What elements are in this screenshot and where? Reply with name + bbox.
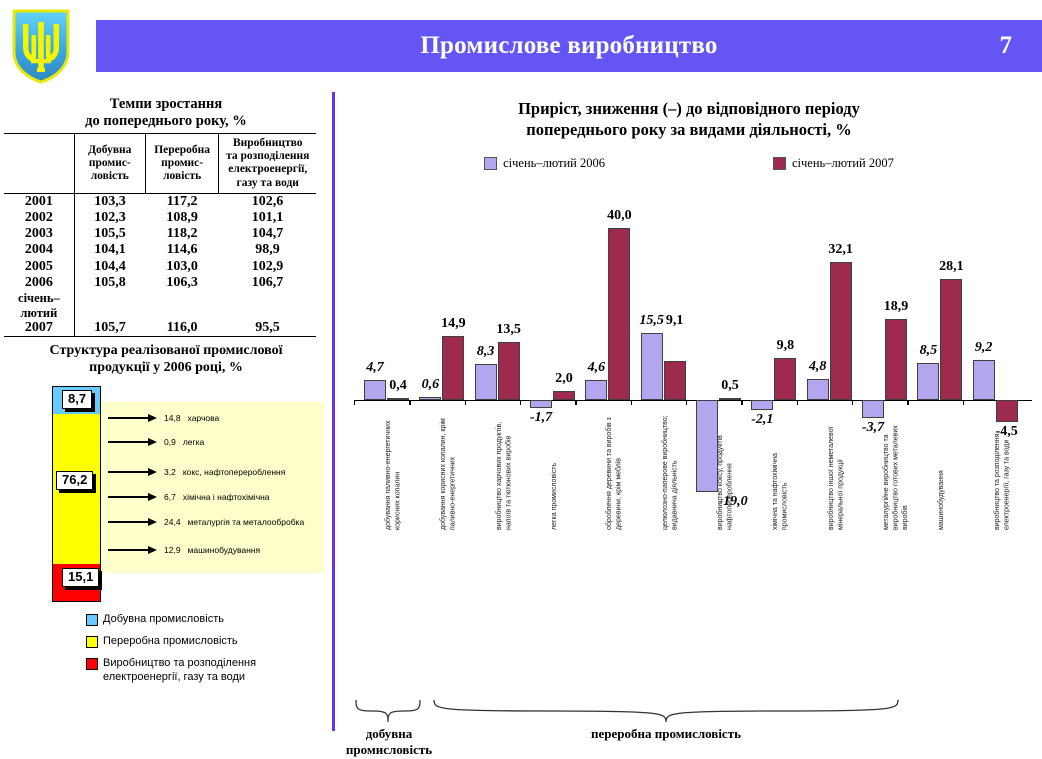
table-row-current-period: січень– лютий 2007 105,7 116,0 95,5 (4, 291, 316, 337)
cell-year: 2001 (4, 193, 74, 210)
breakdown-value: 6,7 (164, 492, 176, 502)
arrow-shaft (108, 417, 148, 419)
bar-value-label: 0,5 (708, 378, 752, 394)
arrow-head-icon (148, 414, 157, 422)
category-label: виробництво іншої неметалевої мінерально… (827, 410, 846, 530)
breakdown-label: кокс, нафтоперероблення (183, 467, 286, 477)
axis-tick (631, 400, 632, 405)
breakdown-row-food: 14,8 харчова (108, 413, 219, 423)
breakdown-label: хімічна і нафтохімічна (183, 492, 270, 502)
bar-2007[interactable] (664, 361, 686, 400)
breakdown-row-coke: 3,2 кокс, нафтоперероблення (108, 467, 285, 477)
cell-pererobna: 106,3 (145, 275, 219, 291)
category-label: хімічна та нафтохімічна промисловість (771, 410, 790, 530)
breakdown-value: 3,2 (164, 467, 176, 477)
brace-label-processing: переробна промисловість (556, 726, 776, 742)
chart-legend-item-2006: січень–лютий 2006 (484, 156, 605, 171)
category-label: легка промисловість (550, 410, 559, 530)
category-label: виробництво та розподілення електроенерг… (993, 410, 1012, 530)
cell-dobuvna: 103,3 (74, 193, 145, 210)
legend-item-mining: Добувна промисловість (86, 612, 326, 626)
axis-tick (575, 400, 576, 405)
arrow-head-icon (148, 438, 157, 446)
bar-2006[interactable] (419, 397, 441, 400)
axis-tick (520, 400, 521, 405)
category-label: виробництво коксу, продуктів нафтопереро… (716, 410, 735, 530)
axis-tick (409, 400, 410, 405)
axis-tick (797, 400, 798, 405)
bar-2007[interactable] (719, 398, 741, 400)
table-row: 2004 104,1 114,6 98,9 (4, 242, 316, 258)
cell-dobuvna: 104,1 (74, 242, 145, 258)
bar-2007[interactable] (774, 358, 796, 400)
chart-legend: січень–лютий 2006 січень–лютий 2007 (336, 156, 1042, 171)
bar-value-label: 4,7 (353, 360, 397, 376)
breakdown-row-light: 0,9 легка (108, 437, 204, 447)
bar-2007[interactable] (442, 336, 464, 400)
bar-2006[interactable] (807, 379, 829, 400)
arrow-head-icon (148, 518, 157, 526)
category-label: оброблення деревини та виробів з деревин… (605, 410, 624, 530)
legend-swatch-processing (86, 636, 98, 648)
breakdown-label: харчова (188, 413, 220, 423)
category-label: добування корисних копалин, крім паливно… (439, 410, 458, 530)
legend-item-processing: Переробна промисловість (86, 634, 326, 648)
bar-2006[interactable] (641, 333, 663, 400)
bar-2006[interactable] (475, 364, 497, 400)
axis-tick (354, 400, 355, 405)
bar-2006[interactable] (751, 400, 773, 410)
table-body: 2001 103,3 117,2 102,6 2002 102,3 108,9 … (4, 193, 316, 337)
arrow-shaft (108, 521, 148, 523)
chart-plot-area: 4,70,40,614,98,313,5-1,72,04,640,015,59,… (350, 210, 1036, 510)
col-header-energy: Виробництво та розподілення електроенерг… (219, 134, 316, 193)
axis-tick (741, 400, 742, 405)
bar-2007[interactable] (608, 228, 630, 400)
vertical-divider (332, 92, 335, 731)
cell-year: 2003 (4, 226, 74, 242)
axis-tick (686, 400, 687, 405)
table-row: 2001 103,3 117,2 102,6 (4, 193, 316, 210)
bar-value-label: 9,8 (763, 338, 807, 354)
growth-table-title: Темпи зростання до попереднього року, % (6, 96, 326, 130)
bar-2006[interactable] (917, 363, 939, 400)
arrow-shaft (108, 471, 148, 473)
breakdown-value: 24,4 (164, 517, 181, 527)
structure-chart-title: Структура реалізованої промислової проду… (10, 343, 322, 377)
category-label: машинобудування (937, 410, 946, 530)
bar-value-label: 13,5 (487, 322, 531, 338)
axis-tick (907, 400, 908, 405)
cell-year: 2006 (4, 275, 74, 291)
cell-energy: 102,6 (219, 193, 316, 210)
bar-2006[interactable] (530, 400, 552, 408)
legend-swatch-energy (86, 658, 98, 670)
category-label: виробництво харчових продуктів, напоїв т… (495, 410, 514, 530)
legend-label-processing: Переробна промисловість (103, 634, 238, 648)
chart-legend-label-2007: січень–лютий 2007 (792, 156, 894, 171)
cell-dobuvna: 102,3 (74, 210, 145, 226)
cell-pererobna: 116,0 (145, 291, 219, 337)
table-row: 2005 104,4 103,0 102,9 (4, 259, 316, 275)
cell-energy: 95,5 (219, 291, 316, 337)
breakdown-label: металургія та металообробка (188, 517, 305, 527)
table-row: 2003 105,5 118,2 104,7 (4, 226, 316, 242)
legend-label-energy: Виробництво та розподілення електроенерг… (103, 656, 256, 684)
chart-legend-item-2007: січень–лютий 2007 (773, 156, 894, 171)
bar-2007[interactable] (885, 319, 907, 400)
stack-value-energy: 15,1 (62, 568, 99, 587)
cell-energy: 102,9 (219, 259, 316, 275)
cell-pererobna: 108,9 (145, 210, 219, 226)
cell-year-period: січень– лютий 2007 (4, 291, 74, 337)
cell-energy: 104,7 (219, 226, 316, 242)
page-number: 7 (1000, 32, 1013, 60)
cell-dobuvna: 105,7 (74, 291, 145, 337)
bar-value-label: 18,9 (874, 299, 918, 315)
arrow-shaft (108, 441, 148, 443)
bar-value-label: 9,2 (962, 340, 1006, 356)
structure-chart: 8,7 76,2 15,1 14,8 харчова 0,9 легка 3,2… (0, 381, 332, 611)
bar-value-label: 32,1 (819, 242, 863, 258)
legend-swatch-mining (86, 614, 98, 626)
chart-legend-swatch-2006 (484, 157, 497, 170)
ukraine-trident-emblem (10, 8, 72, 84)
chart-legend-label-2006: січень–лютий 2006 (503, 156, 605, 171)
arrow-shaft (108, 549, 148, 551)
table-row: 2006 105,8 106,3 106,7 (4, 275, 316, 291)
col-header-year (4, 134, 74, 193)
cell-pererobna: 103,0 (145, 259, 219, 275)
bar-2007[interactable] (940, 279, 962, 400)
cell-dobuvna: 105,8 (74, 275, 145, 291)
table-header: Добувна промис- ловість Переробна промис… (4, 134, 316, 193)
chart-legend-swatch-2007 (773, 157, 786, 170)
cell-pererobna: 117,2 (145, 193, 219, 210)
zero-axis-line (354, 400, 1032, 401)
axis-tick (963, 400, 964, 405)
bar-value-label: 40,0 (597, 208, 641, 224)
bar-2007[interactable] (387, 398, 409, 400)
legend-item-energy: Виробництво та розподілення електроенерг… (86, 656, 326, 684)
arrow-shaft (108, 496, 148, 498)
cell-year: 2004 (4, 242, 74, 258)
breakdown-row-machinery: 12,9 машинобудування (108, 545, 260, 555)
category-label: добування паливно-енергетичних корисних … (384, 410, 403, 530)
cell-pererobna: 114,6 (145, 242, 219, 258)
arrow-head-icon (148, 546, 157, 554)
bar-2006[interactable] (585, 380, 607, 400)
breakdown-label: машинобудування (188, 545, 261, 555)
breakdown-row-chemical: 6,7 хімічна і нафтохімічна (108, 492, 270, 502)
stack-value-mining: 8,7 (62, 390, 92, 409)
cell-dobuvna: 105,5 (74, 226, 145, 242)
col-header-dobuvna: Добувна промис- ловість (74, 134, 145, 193)
stack-value-processing: 76,2 (56, 471, 93, 490)
cell-year: 2002 (4, 210, 74, 226)
cell-pererobna: 118,2 (145, 226, 219, 242)
cell-energy: 98,9 (219, 242, 316, 258)
category-label: металургійне виробництво та виробництво … (882, 410, 910, 530)
bar-value-label: 28,1 (929, 259, 973, 275)
cell-energy: 106,7 (219, 275, 316, 291)
category-label: целюлозно-паперове виробництво; видавнич… (661, 410, 680, 530)
chart-title: Приріст, зниження (–) до відповідного пе… (336, 98, 1042, 140)
page-title: Промислове виробництво (96, 32, 1042, 60)
bar-2007[interactable] (553, 391, 575, 400)
bar-2007[interactable] (830, 262, 852, 400)
structure-chart-legend: Добувна промисловість Переробна промисло… (86, 612, 326, 692)
bar-value-label: 9,1 (653, 313, 697, 329)
breakdown-value: 14,8 (164, 413, 181, 423)
axis-tick (852, 400, 853, 405)
bar-2006[interactable] (973, 360, 995, 400)
legend-label-mining: Добувна промисловість (103, 612, 224, 626)
axis-tick (465, 400, 466, 405)
brace-paths (350, 700, 1040, 724)
table-row: 2002 102,3 108,9 101,1 (4, 210, 316, 226)
bar-value-label: 14,9 (431, 316, 475, 332)
breakdown-row-metallurgy: 24,4 металургія та металообробка (108, 517, 304, 527)
col-header-pererobna: Переробна промис- ловість (145, 134, 219, 193)
bar-2006[interactable] (696, 400, 718, 492)
growth-rates-table: Добувна промис- ловість Переробна промис… (4, 133, 316, 337)
arrow-head-icon (148, 493, 157, 501)
breakdown-value: 12,9 (164, 545, 181, 555)
slide-header-bar: Промислове виробництво 7 (96, 20, 1042, 72)
arrow-head-icon (148, 468, 157, 476)
breakdown-label: легка (183, 437, 204, 447)
cell-dobuvna: 104,4 (74, 259, 145, 275)
cell-year: 2005 (4, 259, 74, 275)
growth-by-activity-chart: Приріст, зниження (–) до відповідного пе… (336, 92, 1042, 731)
group-braces: добувна промисловість переробна промисло… (350, 700, 1040, 724)
bar-2006[interactable] (862, 400, 884, 418)
cell-energy: 101,1 (219, 210, 316, 226)
bar-2007[interactable] (498, 342, 520, 400)
breakdown-value: 0,9 (164, 437, 176, 447)
